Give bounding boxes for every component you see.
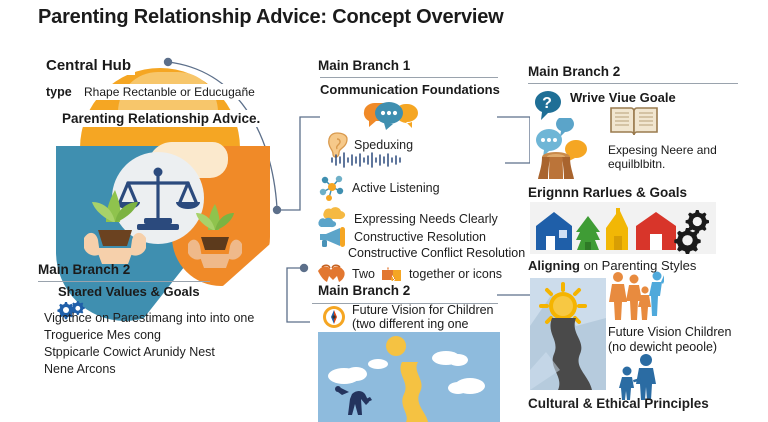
open-book-icon xyxy=(608,100,660,140)
sun-over-mountain-path-illustration xyxy=(530,278,606,390)
branch-right2-section4-title: Cultural & Ethical Principles xyxy=(528,396,709,411)
colored-houses-and-gears-illustration xyxy=(530,202,716,254)
branch-right2-rule xyxy=(528,83,738,84)
puzzle-pieces-icon xyxy=(381,266,403,282)
branch-left2-line: Vigcthce on Parestimang into into one xyxy=(44,310,254,327)
hub-type-value: Rhape Rectanble or Educugañe xyxy=(80,84,259,100)
svg-text:?: ? xyxy=(542,95,552,112)
branch1-heading: Main Branch 1 xyxy=(318,58,410,73)
branch-left2-lines: Vigcthce on Parestimang into into one Tr… xyxy=(44,310,254,378)
diagram-canvas: Parenting Relationship Advice: Concept O… xyxy=(0,0,768,419)
branch1-item-active-listening: Active Listening xyxy=(318,174,440,202)
branch-left2-heading: Main Branch 2 xyxy=(38,262,130,277)
megaphone-icon xyxy=(316,226,348,248)
branch1-item-label: Expressing Needs Clearly xyxy=(354,212,498,226)
branch-center2-item-line1: Future Vision for Children xyxy=(352,303,494,317)
waveform-icon xyxy=(330,152,406,168)
speech-bubbles-icon xyxy=(362,100,418,132)
family-group-icon xyxy=(608,270,664,322)
puzzle-hands-icon xyxy=(316,263,346,285)
branch-right2-caption-1: Future Vision Children xyxy=(608,325,731,339)
network-nodes-icon xyxy=(318,174,346,202)
branch1-item-label: Active Listening xyxy=(352,181,440,195)
branch1-item-two-together: Two together or icons xyxy=(316,263,502,285)
page-title: Parenting Relationship Advice: Concept O… xyxy=(38,6,504,29)
branch1-item-constructive-resolution: Constructive Resolution xyxy=(316,226,486,248)
hands-holding-plant-icon xyxy=(80,186,150,270)
aligning-word: Aligning xyxy=(528,258,580,273)
branch-left2-line: Stppicarle Cowict Arunidy Nest xyxy=(44,344,254,361)
branch1-item-conflict-resolution: Constructive Conflict Resolution xyxy=(348,246,525,260)
tree-stump-icon xyxy=(536,150,576,184)
branch-center2-item-line2: (two different ing one xyxy=(352,317,469,331)
central-hub-heading: Central Hub xyxy=(42,56,135,75)
branch1-subtitle: Communication Foundations xyxy=(320,82,500,97)
branch1-item-label: Constructive Resolution xyxy=(354,230,486,244)
hub-name-plate: Parenting Relationship Advice. xyxy=(58,110,264,127)
parent-and-child-icon xyxy=(614,352,662,400)
branch-left2-line: Troguerice Mes cong xyxy=(44,327,254,344)
branch1-rule xyxy=(320,77,498,78)
branch1-item-label: Speduxing xyxy=(354,138,413,152)
question-bubble-icon: ? xyxy=(532,88,566,122)
branch-right2-section2-title: Erignnn Rarlues & Goals xyxy=(528,185,687,200)
hands-holding-seedling-icon xyxy=(184,200,246,274)
branch-left2-line: Nene Arcons xyxy=(44,361,254,378)
hub-type-label: type xyxy=(42,84,76,100)
branch1-two-label: Two xyxy=(352,267,375,281)
branch-right2-book-caption-1: Expesing Neere and xyxy=(608,143,717,157)
compass-icon xyxy=(322,305,346,329)
branch-left2-rule xyxy=(38,281,210,282)
branch-right2-book-caption-2: equilblbitn. xyxy=(608,157,665,171)
branch-center2-heading: Main Branch 2 xyxy=(318,283,410,298)
branch1-together-label: together or icons xyxy=(409,267,502,281)
path-to-horizon-illustration xyxy=(318,332,500,422)
branch-left2-subtitle: Shared Values & Goals xyxy=(58,284,200,299)
branch-right2-heading: Main Branch 2 xyxy=(528,64,620,79)
